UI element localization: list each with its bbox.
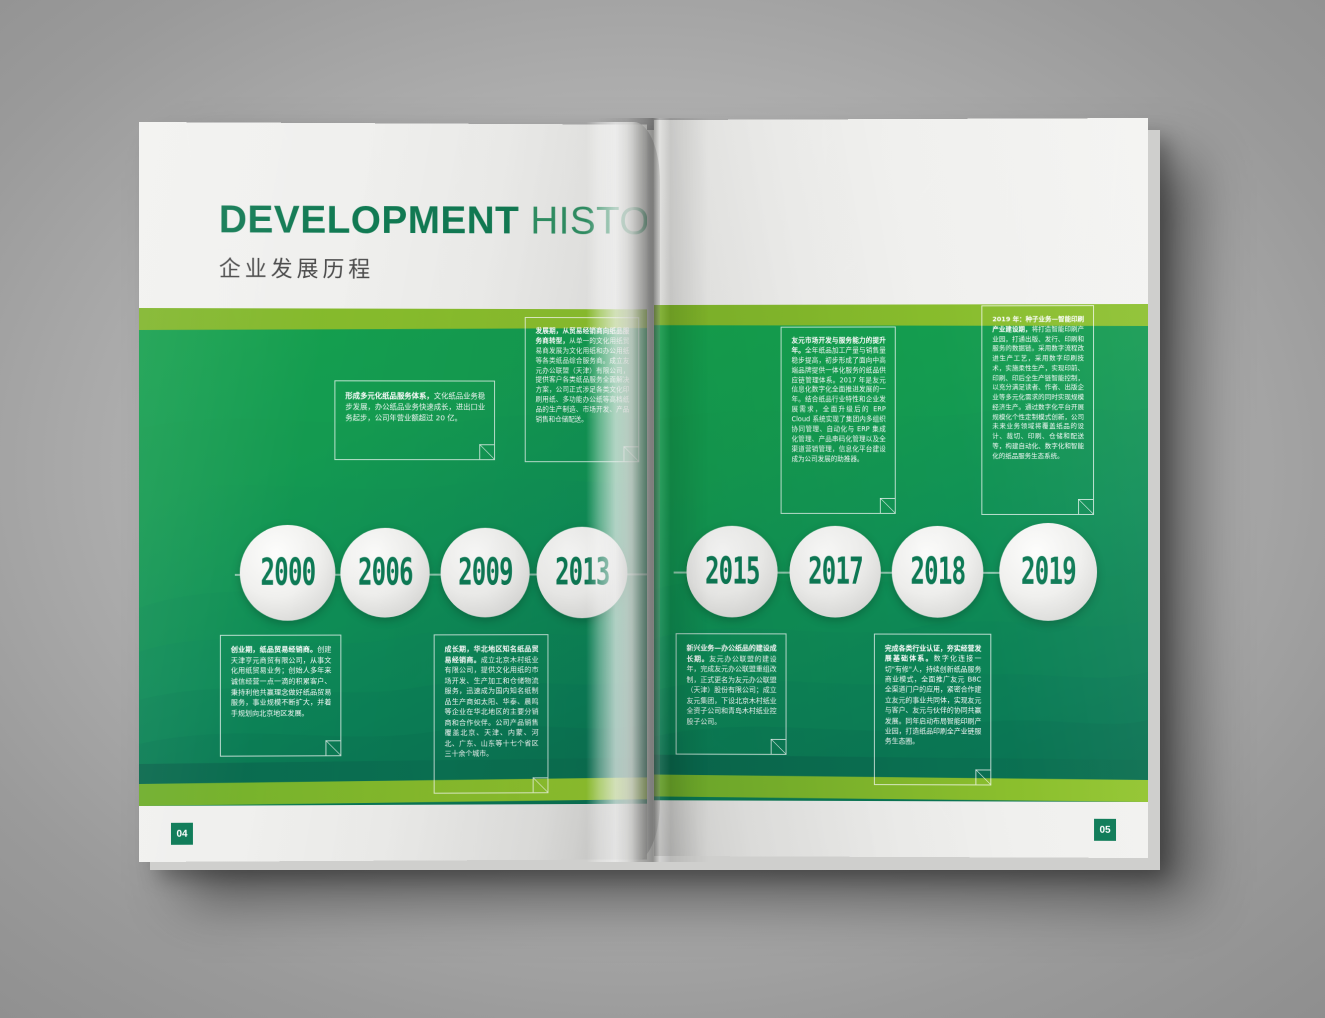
callout-2013-body: 从单一的文化用纸贸易商发展为文化用纸和办公用纸等各类纸品综合服务商。成立友元办公… [536, 337, 630, 424]
callout-2015[interactable]: 新兴业务—办公纸品的建设成长期。友元办公联盟的建设年，完成友元办公联盟重组改制，… [676, 633, 787, 755]
callout-fold-corner-icon [880, 498, 896, 514]
timeline-year-2017: 2017 [808, 550, 863, 594]
callout-2000-body: 创建天津亨元商贸有限公司，从事文化用纸贸易业务；创始人多年来诚信经营一点一滴的积… [231, 645, 332, 718]
callout-2013[interactable]: 发展期，从贸易经销商向纸品服务商转型，从单一的文化用纸贸易商发展为文化用纸和办公… [525, 317, 639, 462]
timeline-year-2000: 2000 [260, 551, 315, 595]
timeline-year-2013: 2013 [555, 551, 609, 595]
callout-2006[interactable]: 成长期，华北地区知名纸品贸易经销商。成立北京木村纸业有限公司，提供文化用纸的市场… [434, 634, 549, 794]
callout-fold-corner-icon [479, 444, 495, 460]
callout-2009-heading: 形成多元化纸品服务体系， [345, 391, 433, 400]
callout-2018[interactable]: 完成各类行业认证，夯实经营发展基础体系。数字化连接一切"有修"人，持续创新纸品服… [874, 634, 991, 786]
timeline-year-2015: 2015 [705, 550, 760, 594]
callout-2000-heading: 创业期，纸品贸易经销商。 [231, 645, 317, 654]
timeline-circle-2018[interactable]: 2018 [892, 526, 984, 618]
timeline-circle-2019[interactable]: 2019 [999, 523, 1097, 621]
timeline-year-2018: 2018 [910, 550, 965, 594]
timeline-year-2009: 2009 [458, 551, 513, 595]
callout-fold-corner-icon [533, 777, 549, 793]
timeline-year-2006: 2006 [358, 551, 413, 595]
callout-2000[interactable]: 创业期，纸品贸易经销商。创建天津亨元商贸有限公司，从事文化用纸贸易业务；创始人多… [220, 635, 341, 757]
timeline-circle-2000[interactable]: 2000 [240, 525, 336, 621]
callout-2019-body: 将打造智能印刷产业园，打通出版、发行、印刷和服务的数据链。采用数字流程改进生产工… [992, 325, 1084, 460]
left-green-panel: 2000 2006 2009 2013 形成多元化纸品服务体系，文化纸品业务稳步… [139, 308, 647, 806]
callout-fold-corner-icon [1078, 499, 1094, 515]
callout-fold-corner-icon [771, 739, 787, 755]
right-page-header-area [654, 118, 1148, 305]
title-word-development: DEVELOPMENT [219, 198, 519, 242]
callout-2019[interactable]: 2019 年：种子业务—智能印刷产业建设期，将打造智能印刷产业园，打通出版、发行… [981, 305, 1094, 515]
page-title-block: DEVELOPMENT HISTORY 企业发展历程 [219, 200, 647, 284]
timeline-circle-2009[interactable]: 2009 [441, 528, 530, 618]
title-word-history: HISTORY [530, 200, 647, 243]
callout-2006-body: 成立北京木村纸业有限公司，提供文化用纸的市场开发、生产加工和仓储物流服务，迅速成… [445, 656, 539, 758]
left-page: DEVELOPMENT HISTORY 企业发展历程 [139, 122, 647, 862]
brochure-spread: DEVELOPMENT HISTORY 企业发展历程 [0, 0, 1325, 1018]
callout-fold-corner-icon [623, 446, 639, 462]
right-page: 2015 2017 2018 2019 友元市场开发与服务能力的提升年。全年纸品… [654, 118, 1148, 858]
timeline-circle-2006[interactable]: 2006 [340, 528, 429, 618]
callout-2018-body: 数字化连接一切"有修"人，持续创新纸品服务商业模式，全面推广友元 B8C 全渠道… [885, 655, 982, 746]
page-title-english: DEVELOPMENT HISTORY [219, 200, 647, 241]
page-number-right: 05 [1094, 819, 1116, 841]
callout-fold-corner-icon [325, 740, 341, 756]
callout-2017-body: 全年纸品加工产量与销售量稳步提高，初步形成了面向中高端品牌提供一体化服务的纸品供… [792, 346, 886, 462]
timeline-year-2019: 2019 [1021, 550, 1076, 594]
callout-2009[interactable]: 形成多元化纸品服务体系，文化纸品业务稳步发展，办公纸品业务快速成长，进出口业务起… [334, 380, 495, 460]
callout-2017[interactable]: 友元市场开发与服务能力的提升年。全年纸品加工产量与销售量稳步提高，初步形成了面向… [781, 326, 896, 513]
callout-fold-corner-icon [975, 769, 991, 785]
page-number-left: 04 [171, 823, 193, 845]
timeline-circle-2017[interactable]: 2017 [790, 526, 881, 618]
page-title-chinese: 企业发展历程 [219, 251, 647, 284]
callout-2015-body: 友元办公联盟的建设年，完成友元办公联盟重组改制，正式更名为友元办公联盟（天津）股… [687, 655, 777, 726]
timeline-circle-2013[interactable]: 2013 [537, 527, 628, 619]
timeline-circle-2015[interactable]: 2015 [687, 526, 778, 618]
right-green-panel: 2015 2017 2018 2019 友元市场开发与服务能力的提升年。全年纸品… [654, 304, 1148, 802]
